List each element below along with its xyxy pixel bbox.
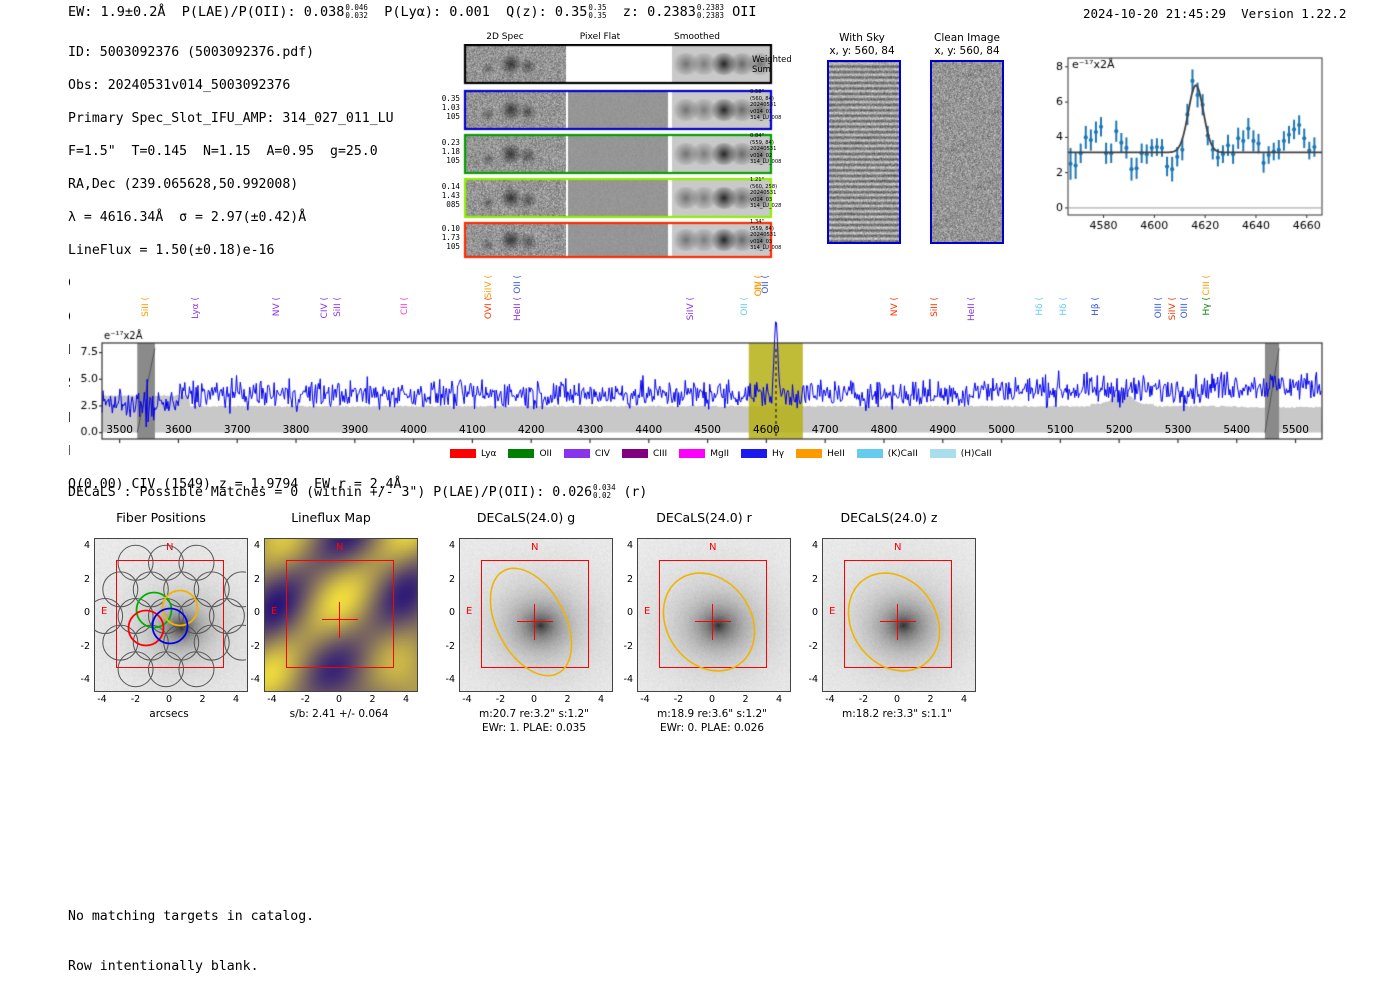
spec2d-left-value: 0.10 [430,224,460,233]
cutout-xtick: -2 [126,694,146,705]
emission-line-label-SiIV: SiIV ( [1168,297,1178,320]
emission-line-label-OII: OII ( [761,275,771,294]
cutout-ytick: -4 [433,674,455,685]
header-qz-lo: 0.35 [588,12,606,20]
header-z-species: OII [732,4,756,20]
cutout-xtick: 4 [396,694,416,705]
crosshair-vertical [339,602,340,638]
cutout-ytick: 4 [611,540,633,551]
info-fwhm-throughput: F=1.5" T=0.145 N=1.15 A=0.95 g=25.0 [68,144,401,161]
cutout-ytick: 0 [433,607,455,618]
cutout-ytick: 2 [238,574,260,585]
spec2d-left-value: 0.23 [430,138,460,147]
spec2d-col-title-2: Smoothed [652,32,742,42]
spec2d-right-value: 314_LU_008 [750,159,781,166]
spectrum-xtick-label: 4700 [807,424,843,436]
cutout-ytick: -4 [611,674,633,685]
legend-item-H: Hγ [741,449,784,459]
cutout-ytick: 2 [68,574,90,585]
spectrum-xtick-label: 4000 [396,424,432,436]
spec2d-left-value: 1.43 [430,191,460,200]
cutout-xtick: -2 [296,694,316,705]
spectrum-xtick-label: 4500 [690,424,726,436]
legend-swatch [508,449,534,458]
source-ellipse [637,538,789,690]
info-lambda-sigma: λ = 4616.34Å σ = 2.97(±0.42)Å [68,210,401,227]
spectrum-xtick-label: 5500 [1278,424,1314,436]
source-ellipse [822,538,974,690]
spectrum-xtick-label: 4400 [631,424,667,436]
spec2d-left-value: 0.14 [430,182,460,191]
emission-line-label-SiIV: SiIV ( [484,275,494,298]
cutout-ytick: 4 [796,540,818,551]
cutout-ytick: 4 [238,540,260,551]
clean-image-title-text: Clean Image [912,32,1022,45]
emission-line-label-SiII: SiII ( [141,297,151,317]
cutout-title: DECaLS(24.0) g [427,510,625,525]
with-sky-image [827,60,901,244]
legend-swatch [930,449,956,458]
emission-line-label-NV: NV ( [272,297,282,316]
spec2d-left-numbers-row-2: 0.141.43085 [430,182,460,210]
spectrum-xtick-label: 3600 [160,424,196,436]
spectrum-xtick-label: 4600 [748,424,784,436]
spectrum-xtick-label: 5400 [1219,424,1255,436]
cutout-ytick: 2 [611,574,633,585]
header-timestamp-version: 2024-10-20 21:45:29 Version 1.22.2 [1083,6,1346,21]
legend-swatch [741,449,767,458]
cutout-xtick: -4 [457,694,477,705]
spec2d-right-value: 314_LU_008 [750,245,781,252]
cutout-xtick: 0 [887,694,907,705]
header-plae-value: 0.038 [304,4,345,20]
legend-label: (H)CaII [961,449,992,459]
emission-line-label-H: Hδ ( [1035,297,1045,316]
cutout-xtick: 0 [329,694,349,705]
cutout-ytick: -2 [433,641,455,652]
cutout-xtick: -4 [92,694,112,705]
footer-note: No matching targets in catalog. Row inte… [68,876,314,992]
info-radec: RA,Dec (239.065628,50.992008) [68,177,401,194]
info-lineflux: LineFlux = 1.50(±0.18)e-16 [68,243,401,260]
cutout-xtick: 2 [921,694,941,705]
cutout-ytick: 0 [796,607,818,618]
emission-line-label-H: Hδ ( [1059,297,1069,316]
spectrum-legend: LyαOIICIVCIIIMgIIHγHeII(K)CaII(H)CaII [450,443,1004,462]
legend-label: HeII [827,449,845,459]
legend-item-Ly: Lyα [450,449,496,459]
spec2d-left-value: 105 [430,156,460,165]
spectrum-xtick-label: 4100 [454,424,490,436]
cutout-caption-2: EWr: 0. PLAE: 0.026 [605,722,819,734]
spectrum-xtick-label: 5000 [984,424,1020,436]
header-plae-range: 0.0460.032 [345,4,368,20]
cutout-xtick: -4 [262,694,282,705]
cutout-xtick: -2 [854,694,874,705]
spec2d-left-value: 085 [430,200,460,209]
spectrum-xtick-label: 5300 [1160,424,1196,436]
header-summary-prefix: EW: 1.9±0.2Å P(LAE)/P(OII): [68,4,304,20]
cutout-xtick: 2 [558,694,578,705]
footer-line-1: No matching targets in catalog. [68,909,314,926]
header-version: Version 1.22.2 [1241,6,1346,21]
cutout-ytick: 0 [68,607,90,618]
emission-line-label-SiII: SiII ( [333,297,343,317]
cutout-ytick: 0 [611,607,633,618]
header-z-range: 0.23830.2383 [697,4,724,20]
cutout-title: Lineflux Map [232,510,430,525]
legend-item-CIII: CIII [622,449,667,459]
spec2d-right-annotation-row-1: 0.84"(559, 84)20240531v014_02314_LU_008 [750,133,781,166]
clean-image [930,60,1004,244]
north-marker: N [336,542,343,553]
cutout-xtick: -4 [635,694,655,705]
spec2d-left-numbers-row-3: 0.101.73105 [430,224,460,252]
spectrum-xtick-label: 3700 [219,424,255,436]
header-summary: EW: 1.9±0.2Å P(LAE)/P(OII): 0.0380.0460.… [68,4,757,20]
cutout-xtick: 0 [524,694,544,705]
cutout-xtick: 2 [363,694,383,705]
emission-line-label-SiII: SiII ( [930,297,940,317]
spec2d-right-annotation-row-2: 1.21"(560, 258)20240531v014_03314_LU_028 [750,177,781,210]
legend-item-CIV: CIV [564,449,610,459]
spec2d-right-value: 314_LU_028 [750,203,781,210]
decals-plae-lo: 0.02 [593,492,616,500]
spectrum-xtick-label: 4300 [572,424,608,436]
spectrum-xtick-label: 4900 [925,424,961,436]
spectrum-line-labels: SiII (Lyα (NV (CIV (SiII (CII (OVI (SiIV… [70,275,1330,355]
legend-swatch [857,449,883,458]
legend-label: CIII [653,449,667,459]
fiber-circles [94,538,246,690]
header-plya: P(Lyα): 0.001 [384,4,490,20]
cutout-ytick: 4 [68,540,90,551]
header-z-lo: 0.2383 [697,12,724,20]
legend-swatch [679,449,705,458]
spec2d-col-title-0: 2D Spec [460,32,550,42]
emission-line-label-OVI: OVI ( [484,297,494,319]
spec2d-left-value: 1.03 [430,103,460,112]
cutout-title: Fiber Positions [62,510,260,525]
emission-line-label-OII: OII ( [513,275,523,294]
legend-label: (K)CaII [888,449,918,459]
source-ellipse [459,538,611,690]
emission-line-label-SiIV: SiIV ( [686,297,696,320]
legend-label: MgII [710,449,729,459]
emission-line-label-HeII: HeII ( [967,297,977,321]
clean-image-title: Clean Image x, y: 560, 84 [912,32,1022,57]
header-qz: Q(z): 0.35 [506,4,587,20]
spec2d-strips [458,44,798,259]
legend-item-KCaII: (K)CaII [857,449,918,459]
cutout-xtick: -4 [820,694,840,705]
emission-line-label-Ly: Lyα ( [191,297,201,319]
spectrum-xtick-label: 4200 [513,424,549,436]
header-timestamp: 2024-10-20 21:45:29 [1083,6,1226,21]
emission-line-label-OII: OII ( [740,297,750,316]
with-sky-title-text: With Sky [812,32,912,45]
cutout-ytick: -2 [796,641,818,652]
info-id: ID: 5003092376 (5003092376.pdf) [68,45,401,62]
spectrum-xticks: 3500360037003800390040004100420043004400… [70,424,1330,444]
cutout-xtick: -2 [669,694,689,705]
spectrum-xtick-label: 5200 [1101,424,1137,436]
cutout-xtick: 0 [702,694,722,705]
spectrum-xtick-label: 3900 [337,424,373,436]
legend-item-HeII: HeII [796,449,845,459]
bottom-panel-row: Fiber PositionsNE420-2-4-4-2024arcsecsLi… [0,510,1000,730]
emission-line-label-HeII: HeII ( [513,297,523,321]
spec2d-left-numbers-row-1: 0.231.18105 [430,138,460,166]
decals-plae-range: 0.0340.02 [593,484,616,500]
spectrum-xtick-label: 3800 [278,424,314,436]
decals-summary-pre: DECaLS : Possible Matches = 0 (within +/… [68,485,592,500]
legend-label: Lyα [481,449,496,459]
legend-label: Hγ [772,449,784,459]
legend-swatch [622,449,648,458]
cutout-ytick: -4 [238,674,260,685]
spec2d-right-annotation-row-3: 1.34"(559, 84)20240531v014_03314_LU_008 [750,219,781,252]
header-plae-lo: 0.032 [345,12,368,20]
cutout-xtick: 4 [769,694,789,705]
cutout-ytick: -2 [238,641,260,652]
emission-line-label-CIII: CIII ( [1202,275,1212,296]
cutout-ytick: -4 [796,674,818,685]
cutout-xtick: 4 [954,694,974,705]
legend-item-OII: OII [508,449,551,459]
legend-item-HCaII: (H)CaII [930,449,992,459]
cutout-xtick: 2 [736,694,756,705]
footer-line-2: Row intentionally blank. [68,959,314,976]
cutout-caption-1: m:18.2 re:3.3" s:1.1" [790,708,1004,720]
cutout-xtick: 0 [159,694,179,705]
cutout-ytick: -2 [68,641,90,652]
spec2d-left-value: 1.73 [430,233,460,242]
spectrum-xtick-label: 3500 [102,424,138,436]
emission-line-label-H: Hβ ( [1091,297,1101,316]
cutout-xtick: -2 [491,694,511,705]
legend-item-MgII: MgII [679,449,729,459]
with-sky-title: With Sky x, y: 560, 84 [812,32,912,57]
emission-line-label-NV: NV ( [890,297,900,316]
emission-line-label-H: Hγ ( [1202,297,1212,315]
with-sky-coords: x, y: 560, 84 [812,45,912,58]
emission-line-label-CII: CII ( [400,297,410,315]
cutout-xtick: 4 [226,694,246,705]
legend-swatch [796,449,822,458]
cutout-ytick: 4 [433,540,455,551]
spec2d-left-value: 0.35 [430,94,460,103]
emission-line-label-OIII: OIII ( [1154,297,1164,318]
emission-line-label-OIII: OIII ( [1180,297,1190,318]
spec2d-left-value: 105 [430,242,460,251]
emission-line-label-CIV: CIV ( [320,297,330,318]
spec2d-right-annotation-row-0: 0.58"(560, 84)20240531v014_01314_LU_008 [750,89,781,122]
cutout-caption-1: s/b: 2.41 +/- 0.064 [232,708,446,720]
spec2d-right-value: 314_LU_008 [750,115,781,122]
weighted-sum-label: WeightedSum [752,54,792,74]
cutout-ytick: 0 [238,607,260,618]
legend-swatch [564,449,590,458]
east-marker: E [271,606,277,617]
spec2d-left-numbers-row-0: 0.351.03105 [430,94,460,122]
cutout-ytick: 2 [433,574,455,585]
cutout-ytick: 2 [796,574,818,585]
cutout-ytick: -2 [611,641,633,652]
spec2d-left-value: 105 [430,112,460,121]
legend-swatch [450,449,476,458]
decals-summary-post: (r) [624,485,648,500]
spec2d-col-title-1: Pixel Flat [555,32,645,42]
legend-label: CIV [595,449,610,459]
spectrum-xtick-label: 4800 [866,424,902,436]
info-obs: Obs: 20240531v014_5003092376 [68,78,401,95]
emission-line-fit-plot [1030,46,1330,251]
header-z: z: 0.2383 [623,4,696,20]
cutout-ytick: -4 [68,674,90,685]
decals-summary: DECaLS : Possible Matches = 0 (within +/… [68,484,647,500]
spectrum-xtick-label: 5100 [1042,424,1078,436]
header-qz-range: 0.350.35 [588,4,606,20]
info-primary-spec: Primary Spec_Slot_IFU_AMP: 314_027_011_L… [68,111,401,128]
clean-image-coords: x, y: 560, 84 [912,45,1022,58]
cutout-caption-1: m:18.9 re:3.6" s:1.2" [605,708,819,720]
cutout-title: DECaLS(24.0) r [605,510,803,525]
cutout-xtick: 2 [193,694,213,705]
cutout-title: DECaLS(24.0) z [790,510,988,525]
spec2d-left-value: 1.18 [430,147,460,156]
cutout-xtick: 4 [591,694,611,705]
legend-label: OII [539,449,551,459]
